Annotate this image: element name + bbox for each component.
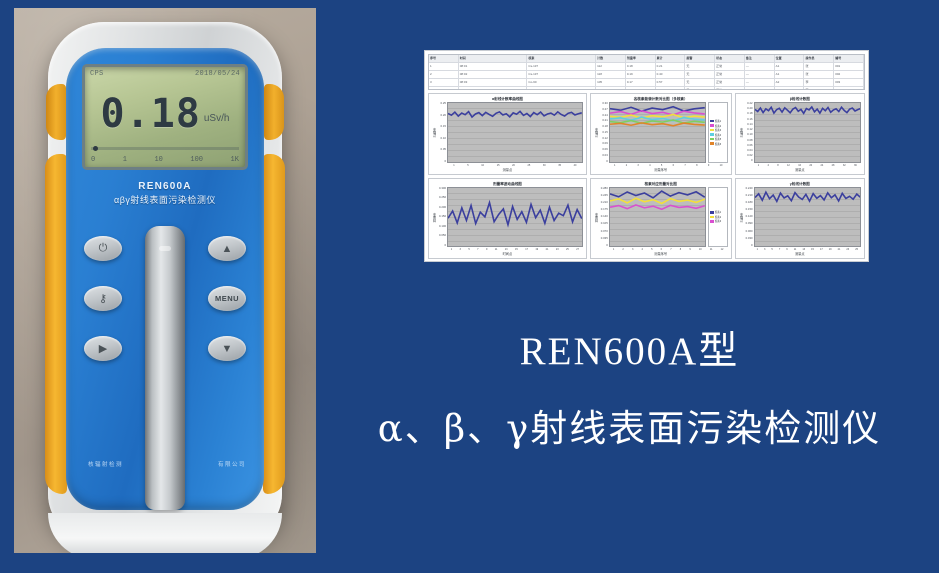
chart-body: 计数率0.2400.2100.1800.1500.1200.0900.0600.… bbox=[739, 187, 861, 248]
lcd-scale-tick: 1 bbox=[123, 156, 127, 164]
chart-y-tick: 0 bbox=[606, 160, 608, 163]
chart-y-tick: 0.245 bbox=[601, 194, 608, 197]
chart-beta-count: β射线计数图计数率0.220.200.180.160.140.120.100.0… bbox=[735, 93, 865, 175]
table-cell: — bbox=[745, 79, 775, 86]
table-row: 108:01Cs-1371120.180.21无正常—A1张001 bbox=[429, 63, 864, 71]
chart-y-tick: 0.12 bbox=[747, 128, 752, 131]
legend-color-swatch bbox=[710, 220, 714, 223]
chart-x-axis-label: 测量序号 bbox=[594, 252, 728, 257]
chart-gamma-count: γ射线计数图计数率0.2400.2100.1800.1500.1200.0900… bbox=[735, 178, 865, 260]
chart-y-tick: 0.030 bbox=[746, 237, 753, 240]
legend-color-swatch bbox=[710, 129, 714, 132]
chart-y-axis-label: 计数率 bbox=[739, 102, 744, 163]
table-cell: Cs-137 bbox=[527, 71, 596, 78]
table-cell: 3 bbox=[429, 79, 459, 86]
chart-svg bbox=[448, 188, 582, 247]
legend-color-swatch bbox=[710, 124, 714, 127]
key-lock-key[interactable]: ⚷ bbox=[84, 286, 122, 311]
table-cell: — bbox=[745, 71, 775, 78]
table-cell: Co-60 bbox=[527, 79, 596, 86]
keypad-left: ⏻⚷▶ bbox=[84, 236, 122, 361]
table-header-cell: 报警 bbox=[685, 55, 715, 62]
lcd-reading-area: 0.18 uSv/h bbox=[90, 82, 240, 134]
table-cell: 0.17 bbox=[626, 79, 656, 86]
table-cell: 正常 bbox=[715, 63, 745, 70]
chart-y-tick: 0.10 bbox=[441, 137, 446, 140]
chart-svg bbox=[755, 188, 860, 247]
chart-grid: α射线计数率曲线图计数率0.250.200.150.100.0501510152… bbox=[428, 93, 865, 259]
table-cell: 002 bbox=[834, 71, 864, 78]
play-key[interactable]: ▶ bbox=[84, 336, 122, 361]
chart-y-tick: 0.300 bbox=[439, 187, 446, 190]
chart-y-tick: 0.04 bbox=[747, 149, 752, 152]
center-metal-strip bbox=[145, 226, 185, 510]
table-row: 308:03Co-601050.170.57无正常—A2李003 bbox=[429, 79, 864, 87]
lcd-bargraph bbox=[91, 147, 239, 150]
chart-y-tick: 0.20 bbox=[747, 107, 752, 110]
table-cell: 李 bbox=[804, 79, 834, 86]
device-bottom-right-text: 有限公司 bbox=[218, 460, 246, 468]
legend-color-swatch bbox=[710, 138, 714, 141]
chart-alpha-count: α射线计数率曲线图计数率0.250.200.150.100.0501510152… bbox=[428, 93, 587, 175]
chart-body: 剂量率0.2800.2450.2100.1750.1400.1050.0700.… bbox=[594, 187, 728, 248]
legend-label: 核素5 bbox=[715, 137, 722, 141]
rubber-grip-right bbox=[263, 154, 285, 494]
chart-y-axis-label: 计数率 bbox=[594, 102, 599, 163]
legend-color-swatch bbox=[710, 120, 714, 123]
chart-y-tick: 0.14 bbox=[747, 123, 752, 126]
chart-series-line bbox=[755, 192, 860, 201]
grip-top-right-icon bbox=[264, 84, 284, 140]
legend-item: 核素2 bbox=[710, 124, 726, 128]
chart-plot-area bbox=[609, 102, 706, 163]
chart-y-tick: 0 bbox=[444, 244, 446, 247]
chart-svg bbox=[610, 103, 705, 162]
table-header-cell: 位置 bbox=[775, 55, 805, 62]
chart-legend: 核素1核素2核素3 bbox=[708, 187, 728, 248]
lcd-value: 0.18 bbox=[101, 95, 201, 134]
lcd-scale-tick: 1K bbox=[231, 156, 239, 164]
chart-body: 计数率0.300.270.240.210.180.150.120.090.060… bbox=[594, 102, 728, 163]
device-model-label: REN600A αβγ射线表面污染检测仪 bbox=[66, 180, 264, 206]
chart-y-tick: 0.150 bbox=[746, 208, 753, 211]
table-cell: 08:04 bbox=[459, 87, 528, 90]
table-header-cell: 累计 bbox=[656, 55, 686, 62]
chart-plot-area bbox=[754, 187, 861, 248]
chart-y-tick: 0.150 bbox=[439, 215, 446, 218]
table-cell: 无 bbox=[685, 71, 715, 78]
chart-y-tick: 0.240 bbox=[746, 187, 753, 190]
chart-body: 剂量率0.3000.2500.2000.1500.1000.0500 bbox=[432, 187, 583, 248]
chart-x-axis-label: 测量点 bbox=[739, 252, 861, 257]
legend-label: 核素3 bbox=[715, 128, 722, 132]
chart-plot-area bbox=[447, 187, 583, 248]
chart-series-line bbox=[448, 111, 582, 117]
legend-item: 核素4 bbox=[710, 133, 726, 137]
chart-plot-area bbox=[609, 187, 706, 248]
table-cell: 105 bbox=[596, 79, 626, 86]
table-header-cell: 时间 bbox=[459, 55, 528, 62]
lcd-screen[interactable]: CPS 2018/05/24 0.18 uSv/h 01101001K bbox=[82, 64, 248, 170]
table-cell: 003 bbox=[834, 79, 864, 86]
chart-y-tick: 0.210 bbox=[746, 194, 753, 197]
power-key[interactable]: ⏻ bbox=[84, 236, 122, 261]
chart-y-tick: 0.250 bbox=[439, 196, 446, 199]
chart-y-tick: 0.24 bbox=[602, 114, 607, 117]
chart-y-axis-ticks: 0.220.200.180.160.140.120.100.080.060.04… bbox=[744, 102, 754, 163]
grip-top-left-icon bbox=[46, 84, 66, 140]
chart-y-tick: 0.120 bbox=[746, 215, 753, 218]
chart-series-line bbox=[610, 120, 705, 123]
table-cell: 无 bbox=[685, 79, 715, 86]
chart-y-tick: 0.08 bbox=[747, 139, 752, 142]
chart-y-tick: 0.12 bbox=[602, 137, 607, 140]
chart-series-line bbox=[610, 198, 705, 203]
chart-svg bbox=[448, 103, 582, 162]
chart-y-tick: 0.15 bbox=[602, 131, 607, 134]
legend-item: 核素5 bbox=[710, 137, 726, 141]
key-lock-icon: ⚷ bbox=[99, 292, 107, 305]
caption-model-line: REN600A型 bbox=[330, 320, 929, 376]
lcd-scale-tick: 100 bbox=[190, 156, 203, 164]
table-cell: 0.77 bbox=[656, 87, 686, 90]
table-cell: 121 bbox=[596, 87, 626, 90]
table-cell: 正常 bbox=[715, 71, 745, 78]
table-cell: 0.20 bbox=[626, 87, 656, 90]
chart-y-tick: 0.050 bbox=[439, 234, 446, 237]
legend-label: 核素2 bbox=[715, 124, 722, 128]
chart-y-tick: 0.18 bbox=[747, 112, 752, 115]
menu-key-label: MENU bbox=[215, 294, 239, 303]
chart-y-axis-ticks: 0.3000.2500.2000.1500.1000.0500 bbox=[437, 187, 447, 248]
chart-y-tick: 0.140 bbox=[601, 215, 608, 218]
table-header-cell: 编号 bbox=[834, 55, 864, 62]
legend-item: 核素3 bbox=[710, 128, 726, 132]
chart-y-tick: 0 bbox=[751, 244, 753, 247]
table-header-cell: 备注 bbox=[745, 55, 775, 62]
legend-label: 核素1 bbox=[715, 119, 722, 123]
chart-series-line bbox=[610, 117, 705, 121]
chart-svg bbox=[610, 188, 705, 247]
legend-label: 核素1 bbox=[715, 210, 722, 214]
lcd-scale-tick: 0 bbox=[91, 156, 95, 164]
chart-y-tick: 0.070 bbox=[601, 230, 608, 233]
chart-y-tick: 0.15 bbox=[441, 125, 446, 128]
chart-y-tick: 0.21 bbox=[602, 119, 607, 122]
lcd-scale-tick: 10 bbox=[154, 156, 162, 164]
chart-y-tick: 0.105 bbox=[601, 222, 608, 225]
chart-y-tick: 0 bbox=[444, 160, 446, 163]
table-row: 208:02Cs-1371180.190.40无正常—A1张002 bbox=[429, 71, 864, 79]
chart-nuclide-dose: 核素对应剂量对比图剂量率0.2800.2450.2100.1750.1400.1… bbox=[590, 178, 732, 260]
chart-y-tick: 0.06 bbox=[602, 148, 607, 151]
chart-y-tick: 0.10 bbox=[747, 133, 752, 136]
chart-series-line bbox=[448, 202, 582, 224]
chart-y-tick: 0 bbox=[751, 159, 753, 162]
chart-y-tick: 0.100 bbox=[439, 225, 446, 228]
chart-series-line bbox=[610, 191, 705, 198]
chart-y-tick: 0.18 bbox=[602, 125, 607, 128]
chart-x-axis-label: 时间点 bbox=[432, 252, 583, 257]
device-bottom-bezel bbox=[48, 513, 282, 553]
product-photo: CPS 2018/05/24 0.18 uSv/h 01101001K REN6… bbox=[14, 8, 316, 553]
table-cell: 08:03 bbox=[459, 79, 528, 86]
chart-y-tick: 0.30 bbox=[602, 102, 607, 105]
lcd-status-right: 2018/05/24 bbox=[195, 70, 240, 78]
table-cell: 无 bbox=[685, 87, 715, 90]
table-cell: 无 bbox=[685, 63, 715, 70]
table-cell: 2 bbox=[429, 71, 459, 78]
table-header-cell: 操作员 bbox=[804, 55, 834, 62]
device-model-text: REN600A bbox=[66, 180, 264, 194]
chart-y-tick: 0.06 bbox=[747, 144, 752, 147]
chart-y-axis-label: 计数率 bbox=[432, 102, 437, 163]
legend-label: 核素2 bbox=[715, 215, 722, 219]
device-outer-shell: CPS 2018/05/24 0.18 uSv/h 01101001K REN6… bbox=[48, 22, 282, 540]
lcd-bargraph-indicator bbox=[93, 146, 98, 151]
table-cell: 张 bbox=[804, 71, 834, 78]
chart-series-line bbox=[610, 115, 705, 119]
chart-series-line bbox=[610, 204, 705, 208]
down-key[interactable]: ▼ bbox=[208, 336, 246, 361]
table-cell: 0.40 bbox=[656, 71, 686, 78]
table-cell: — bbox=[745, 87, 775, 90]
chart-series-line bbox=[755, 107, 860, 113]
power-icon: ⏻ bbox=[99, 242, 108, 255]
chart-y-tick: 0.20 bbox=[441, 114, 446, 117]
lcd-status-row: CPS 2018/05/24 bbox=[90, 70, 240, 78]
chart-y-tick: 0.09 bbox=[602, 142, 607, 145]
table-cell: 0.19 bbox=[626, 71, 656, 78]
chart-y-tick: 0.03 bbox=[602, 154, 607, 157]
legend-item: 核素6 bbox=[710, 142, 726, 146]
chart-x-axis-label: 测量点 bbox=[739, 168, 861, 173]
menu-key[interactable]: MENU bbox=[208, 286, 246, 311]
table-cell: 08:01 bbox=[459, 63, 528, 70]
table-cell: 李 bbox=[804, 87, 834, 90]
caption-block: REN600A型 α、β、γ射线表面污染检测仪 bbox=[330, 320, 929, 452]
device-front-panel: CPS 2018/05/24 0.18 uSv/h 01101001K REN6… bbox=[66, 48, 264, 510]
chart-series-line bbox=[610, 107, 705, 111]
chart-y-tick: 0.27 bbox=[602, 108, 607, 111]
chart-y-axis-label: 剂量率 bbox=[432, 187, 437, 248]
legend-color-swatch bbox=[710, 133, 714, 136]
lcd-unit: uSv/h bbox=[204, 113, 230, 124]
table-cell: A2 bbox=[775, 87, 805, 90]
chart-x-axis-label: 测量序号 bbox=[594, 168, 728, 173]
table-row: 408:04Co-601210.200.77无正常—A2李004 bbox=[429, 87, 864, 90]
chart-y-tick: 0.060 bbox=[746, 230, 753, 233]
chart-series-line bbox=[610, 123, 705, 126]
table-cell: A1 bbox=[775, 71, 805, 78]
chart-multi-nuclide: 各核素能谱计数对比图（多核素）计数率0.300.270.240.210.180.… bbox=[590, 93, 732, 175]
chart-y-tick: 0.180 bbox=[746, 201, 753, 204]
chart-y-tick: 0.200 bbox=[439, 206, 446, 209]
chart-y-tick: 0 bbox=[606, 244, 608, 247]
table-cell: 08:02 bbox=[459, 71, 528, 78]
table-cell: Cs-137 bbox=[527, 63, 596, 70]
chart-y-axis-label: 计数率 bbox=[739, 187, 744, 248]
up-key[interactable]: ▲ bbox=[208, 236, 246, 261]
chart-y-tick: 0.035 bbox=[601, 237, 608, 240]
chart-svg bbox=[755, 103, 860, 162]
chart-y-axis-ticks: 0.300.270.240.210.180.150.120.090.060.03… bbox=[599, 102, 609, 163]
chart-body: 计数率0.250.200.150.100.050 bbox=[432, 102, 583, 163]
chart-y-axis-ticks: 0.2400.2100.1800.1500.1200.0900.0600.030… bbox=[744, 187, 754, 248]
table-cell: 张 bbox=[804, 63, 834, 70]
table-header-cell: 核素 bbox=[527, 55, 596, 62]
table-cell: 正常 bbox=[715, 79, 745, 86]
table-cell: 1 bbox=[429, 63, 459, 70]
legend-label: 核素3 bbox=[715, 219, 722, 223]
chart-plot-area bbox=[754, 102, 861, 163]
play-icon: ▶ bbox=[99, 342, 107, 355]
rubber-grip-left bbox=[45, 154, 67, 494]
device-bottom-left-text: 核辐射检测 bbox=[88, 460, 123, 468]
table-cell: 0.21 bbox=[656, 63, 686, 70]
chart-y-axis-label: 剂量率 bbox=[594, 187, 599, 248]
table-cell: 4 bbox=[429, 87, 459, 90]
legend-label: 核素4 bbox=[715, 133, 722, 137]
legend-item: 核素1 bbox=[710, 119, 726, 123]
table-header-row: 序号时间核素计数剂量率累计报警状态备注位置操作员编号 bbox=[429, 55, 864, 63]
legend-item: 核素3 bbox=[710, 219, 726, 223]
up-icon: ▲ bbox=[222, 243, 233, 255]
software-report-panel: 序号时间核素计数剂量率累计报警状态备注位置操作员编号108:01Cs-13711… bbox=[424, 50, 869, 262]
strip-slot-icon bbox=[159, 246, 171, 251]
chart-y-tick: 0.280 bbox=[601, 187, 608, 190]
chart-x-axis-label: 测量点 bbox=[432, 168, 583, 173]
chart-y-tick: 0.16 bbox=[747, 118, 752, 121]
chart-series-line bbox=[610, 111, 705, 115]
table-header-cell: 序号 bbox=[429, 55, 459, 62]
legend-color-swatch bbox=[710, 211, 714, 214]
chart-y-axis-ticks: 0.250.200.150.100.050 bbox=[437, 102, 447, 163]
table-cell: A2 bbox=[775, 79, 805, 86]
caption-description-line: α、β、γ射线表面污染检测仪 bbox=[330, 398, 929, 452]
table-cell: Co-60 bbox=[527, 87, 596, 90]
chart-y-tick: 0.175 bbox=[601, 208, 608, 211]
chart-plot-area bbox=[447, 102, 583, 163]
table-cell: 001 bbox=[834, 63, 864, 70]
table-cell: 118 bbox=[596, 71, 626, 78]
table-header-cell: 计数 bbox=[596, 55, 626, 62]
chart-dose-rate: 剂量率波动曲线图剂量率0.3000.2500.2000.1500.1000.05… bbox=[428, 178, 587, 260]
table-cell: 0.57 bbox=[656, 79, 686, 86]
legend-color-swatch bbox=[710, 142, 714, 145]
table-header-cell: 剂量率 bbox=[626, 55, 656, 62]
chart-legend: 核素1核素2核素3核素4核素5核素6 bbox=[708, 102, 728, 163]
lcd-scale-ticks: 01101001K bbox=[91, 156, 239, 164]
keypad-right: ▲MENU▼ bbox=[208, 236, 246, 361]
legend-label: 核素6 bbox=[715, 142, 722, 146]
down-icon: ▼ bbox=[222, 343, 233, 355]
legend-item: 核素2 bbox=[710, 215, 726, 219]
legend-color-swatch bbox=[710, 216, 714, 219]
chart-y-tick: 0.25 bbox=[441, 102, 446, 105]
table-cell: — bbox=[745, 63, 775, 70]
chart-y-tick: 0.210 bbox=[601, 201, 608, 204]
chart-y-tick: 0.05 bbox=[441, 148, 446, 151]
report-data-table: 序号时间核素计数剂量率累计报警状态备注位置操作员编号108:01Cs-13711… bbox=[428, 54, 865, 90]
table-header-cell: 状态 bbox=[715, 55, 745, 62]
table-cell: 正常 bbox=[715, 87, 745, 90]
legend-item: 核素1 bbox=[710, 210, 726, 214]
chart-y-tick: 0.090 bbox=[746, 222, 753, 225]
chart-y-tick: 0.22 bbox=[747, 102, 752, 105]
table-cell: 112 bbox=[596, 63, 626, 70]
table-cell: A1 bbox=[775, 63, 805, 70]
chart-y-axis-ticks: 0.2800.2450.2100.1750.1400.1050.0700.035… bbox=[599, 187, 609, 248]
lcd-status-left: CPS bbox=[90, 70, 104, 78]
device-chinese-text: αβγ射线表面污染检测仪 bbox=[66, 194, 264, 206]
table-cell: 0.18 bbox=[626, 63, 656, 70]
chart-body: 计数率0.220.200.180.160.140.120.100.080.060… bbox=[739, 102, 861, 163]
chart-y-tick: 0.02 bbox=[747, 154, 752, 157]
table-cell: 004 bbox=[834, 87, 864, 90]
